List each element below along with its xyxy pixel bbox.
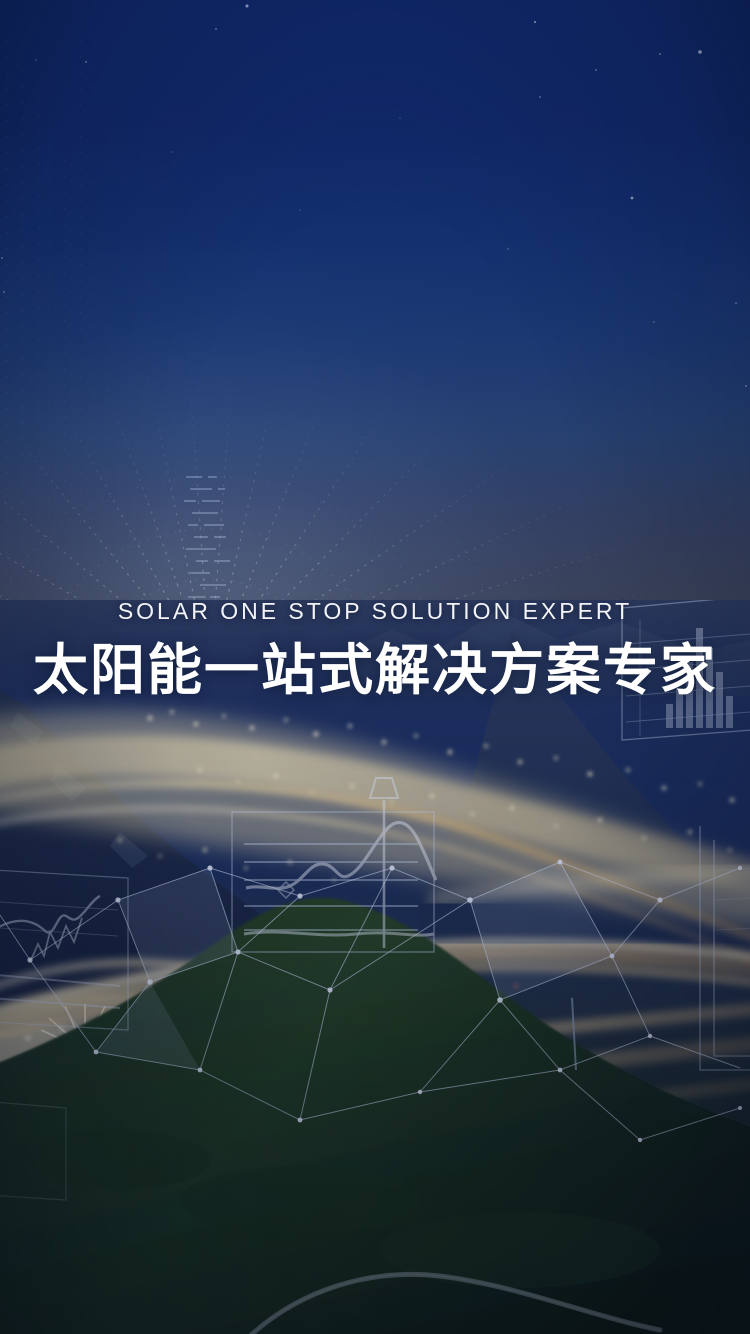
landscape	[0, 600, 750, 1334]
banner-eyebrow: SOLAR ONE STOP SOLUTION EXPERT	[0, 596, 750, 626]
banner-headline: 太阳能一站式解决方案专家	[0, 639, 750, 701]
banner-hero: SOLAR ONE STOP SOLUTION EXPERT 太阳能一站式解决方…	[0, 0, 750, 1334]
night-sky-background	[0, 0, 750, 700]
banner-copy: SOLAR ONE STOP SOLUTION EXPERT 太阳能一站式解决方…	[0, 596, 750, 701]
valley-base	[0, 600, 750, 1334]
